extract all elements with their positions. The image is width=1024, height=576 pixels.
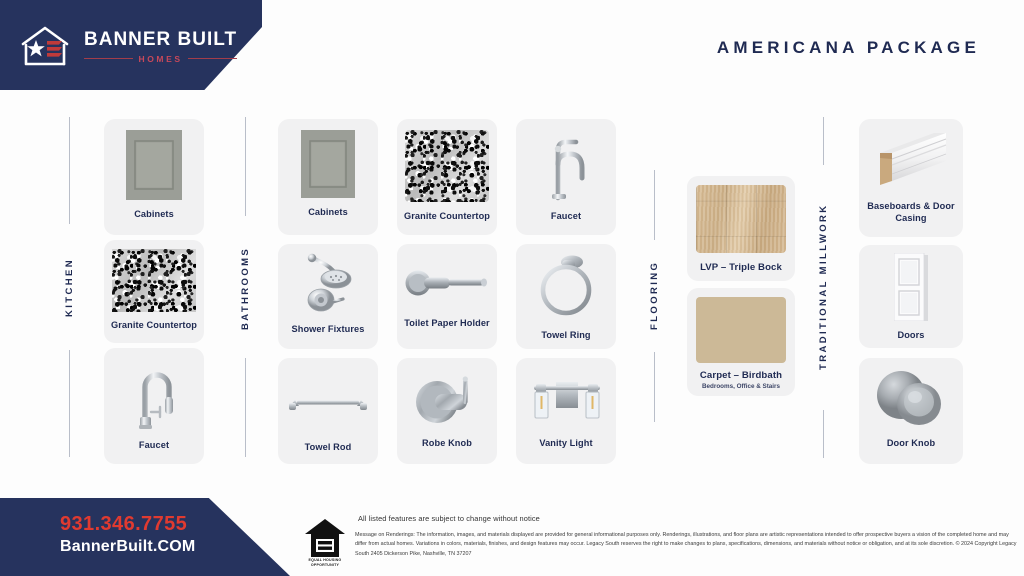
- card-label: Faucet: [135, 440, 173, 452]
- section-label-flooring: FLOORING: [649, 245, 661, 345]
- section-label-millwork: TRADITIONAL MILLWORK: [818, 172, 830, 402]
- card-label: Shower Fixtures: [288, 324, 369, 336]
- granite-swatch: [405, 130, 489, 202]
- card-bath-faucet[interactable]: Faucet: [516, 119, 616, 235]
- card-bath-granite[interactable]: Granite Countertop: [397, 119, 497, 235]
- card-bath-towel-ring[interactable]: Towel Ring: [516, 244, 616, 349]
- divider-kitchen-bottom: [69, 350, 70, 457]
- card-label: Towel Rod: [301, 442, 356, 454]
- divider-bathrooms-bottom: [245, 358, 246, 457]
- americana-package-brochure: BANNER BUILT HOMES AMERICANA PACKAGE KIT…: [0, 0, 1024, 576]
- kitchen-faucet-icon: [123, 357, 185, 431]
- card-kitchen-cabinets[interactable]: Cabinets: [104, 119, 204, 235]
- legal-disclaimer: Message on Renderings: The information, …: [355, 531, 1017, 559]
- card-bath-cabinets[interactable]: Cabinets: [278, 119, 378, 235]
- cabinet-door-icon: [126, 130, 182, 200]
- card-millwork-door-knob[interactable]: Door Knob: [859, 358, 963, 464]
- phone-number[interactable]: 931.346.7755: [60, 513, 187, 536]
- towel-rod-icon: [285, 392, 371, 414]
- card-flooring-lvp[interactable]: LVP – Triple Bock: [687, 176, 795, 281]
- card-label: Door Knob: [883, 438, 939, 450]
- card-label: Robe Knob: [418, 438, 476, 450]
- brand-sub: HOMES: [138, 54, 182, 64]
- cabinet-door-icon: [301, 130, 355, 198]
- card-label: Granite Countertop: [107, 320, 201, 332]
- panel-door-icon: [894, 253, 928, 321]
- carpet-swatch: [696, 297, 786, 363]
- footer-banner: [0, 498, 290, 576]
- lvp-wood-swatch: [696, 185, 786, 253]
- brand-name: BANNER BUILT: [84, 30, 237, 51]
- divider-bathrooms-top: [245, 117, 246, 216]
- shower-head-icon: [293, 252, 363, 318]
- card-label: Carpet – Birdbath: [696, 370, 786, 382]
- logo-rule-left: [84, 58, 133, 59]
- house-flag-logo-icon: [16, 24, 74, 70]
- card-label: Vanity Light: [535, 438, 596, 450]
- card-bath-vanity-light[interactable]: Vanity Light: [516, 358, 616, 464]
- divider-millwork-bottom: [823, 410, 824, 458]
- baseboard-molding-icon: [872, 129, 950, 191]
- brand-sub-row: HOMES: [84, 54, 237, 64]
- divider-millwork-top: [823, 117, 824, 165]
- brand-logo[interactable]: BANNER BUILT HOMES: [16, 24, 237, 70]
- page-title: AMERICANA PACKAGE: [717, 38, 980, 58]
- card-bath-robe-knob[interactable]: Robe Knob: [397, 358, 497, 464]
- card-label: Doors: [893, 330, 928, 342]
- card-label: Cabinets: [304, 207, 352, 219]
- website-link[interactable]: BannerBuilt.COM: [60, 538, 195, 556]
- towel-ring-icon: [536, 252, 596, 320]
- card-bath-tp-holder[interactable]: Toilet Paper Holder: [397, 244, 497, 349]
- vanity-light-icon: [524, 374, 608, 424]
- card-label: Towel Ring: [537, 330, 594, 342]
- card-millwork-doors[interactable]: Doors: [859, 245, 963, 348]
- toilet-paper-holder-icon: [404, 266, 490, 300]
- card-label: Toilet Paper Holder: [400, 318, 493, 330]
- robe-knob-icon: [413, 372, 481, 426]
- logo-rule-right: [188, 58, 237, 59]
- door-knob-icon: [874, 368, 948, 430]
- card-kitchen-granite[interactable]: Granite Countertop: [104, 240, 204, 343]
- card-bath-shower[interactable]: Shower Fixtures: [278, 244, 378, 349]
- card-sublabel: Bedrooms, Office & Stairs: [702, 383, 780, 391]
- granite-swatch: [112, 249, 196, 312]
- eho-caption: EQUAL HOUSING OPPORTUNITY: [299, 558, 351, 567]
- card-label: Granite Countertop: [400, 211, 494, 223]
- divider-flooring-top: [654, 170, 655, 240]
- section-label-bathrooms: BATHROOMS: [240, 224, 252, 352]
- card-label: LVP – Triple Bock: [696, 262, 786, 274]
- card-label: Baseboards & Door Casing: [859, 201, 963, 224]
- card-kitchen-faucet[interactable]: Faucet: [104, 348, 204, 464]
- card-label: Cabinets: [130, 209, 178, 221]
- features-notice: All listed features are subject to chang…: [358, 514, 540, 523]
- divider-kitchen-top: [69, 117, 70, 224]
- bath-faucet-icon: [537, 128, 595, 202]
- section-label-kitchen: KITCHEN: [64, 232, 76, 342]
- card-bath-towel-rod[interactable]: Towel Rod: [278, 358, 378, 464]
- card-millwork-baseboards[interactable]: Baseboards & Door Casing: [859, 119, 963, 237]
- card-flooring-carpet[interactable]: Carpet – Birdbath Bedrooms, Office & Sta…: [687, 288, 795, 396]
- divider-flooring-bottom: [654, 352, 655, 422]
- card-label: Faucet: [547, 211, 585, 223]
